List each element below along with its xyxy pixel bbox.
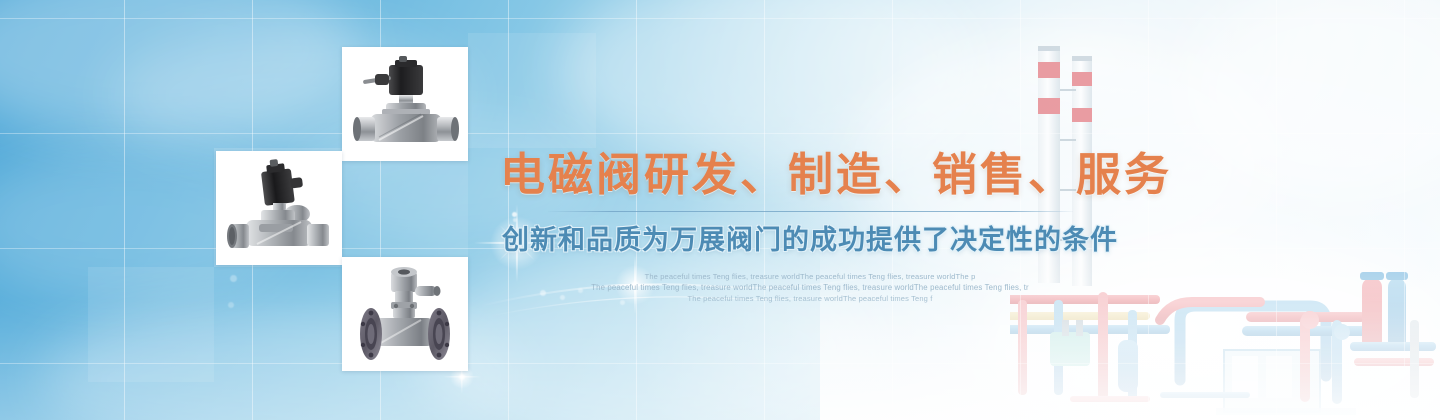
banner-subheadline: 创新和品质为万展阀门的成功提供了决定性的条件 [500,218,1120,257]
decor-panel-c [88,267,214,382]
product-thumbnail-1[interactable] [342,47,468,161]
fineprint-line-3: The peaceful times Teng flies, treasure … [500,293,1120,304]
solenoid-valve-threaded-top-icon [349,54,461,154]
bokeh-dot [230,275,237,282]
headline-divider [548,211,1073,212]
banner-fineprint: The peaceful times Teng flies, treasure … [500,271,1120,304]
decor-panel-b [340,148,468,267]
fineprint-line-1: The peaceful times Teng flies, treasure … [500,271,1120,282]
banner-headline: 电磁阀研发、制造、销售、服务 [500,148,1120,201]
solenoid-valve-threaded-side-icon [223,158,335,258]
hero-banner: 电磁阀研发、制造、销售、服务 创新和品质为万展阀门的成功提供了决定性的条件 Th… [0,0,1440,420]
product-thumbnail-3[interactable] [342,257,468,371]
banner-text-block: 电磁阀研发、制造、销售、服务 创新和品质为万展阀门的成功提供了决定性的条件 Th… [500,148,1120,304]
fineprint-line-2: The peaceful times Teng flies, treasure … [500,282,1120,293]
bokeh-dot [228,302,234,308]
product-thumbnail-2[interactable] [216,151,342,265]
solenoid-valve-flanged-icon [351,264,459,364]
decor-panel-d [468,33,596,148]
